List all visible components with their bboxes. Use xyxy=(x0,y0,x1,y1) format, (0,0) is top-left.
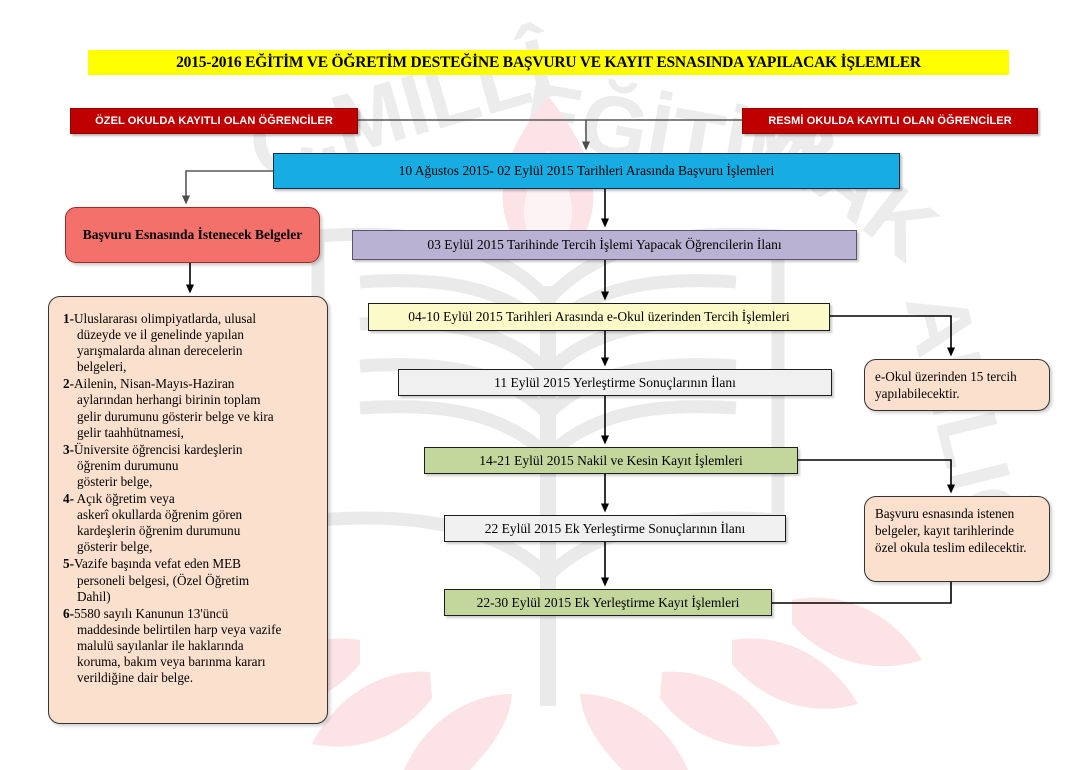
note-belgeler-ozel-okula-teslim: Başvuru esnasında istenen belgeler, kayı… xyxy=(864,496,1050,582)
document-list-item-text: Ailenin, Nisan-Mayıs-Haziran aylarından … xyxy=(74,376,274,439)
header-resmi-okulda-kayitli-ogrenciler: RESMİ OKULDA KAYITLI OLAN ÖĞRENCİLER xyxy=(742,108,1038,134)
step-basvuru-esnasinda-istenecek-belgeler: Başvuru Esnasında İstenecek Belgeler xyxy=(65,207,320,263)
note-e-okul-15-tercih: e-Okul üzerinden 15 tercih yapılabilecek… xyxy=(864,359,1050,411)
document-list-item: 6-5580 sayılı Kanunun 13'üncü maddesinde… xyxy=(63,606,315,686)
document-list-item-text: Vazife başında vefat eden MEB personeli … xyxy=(74,556,249,603)
document-list-item: 3-Üniversite öğrencisi kardeşlerin öğren… xyxy=(63,442,315,490)
documents-required-list: 1-Uluslararası olimpiyatlarda, ulusal dü… xyxy=(48,296,328,724)
document-list-item-text: 5580 sayılı Kanunun 13'üncü maddesinde b… xyxy=(74,606,281,685)
document-list-item-text: Açık öğretim veya askerî okullarda öğren… xyxy=(74,491,242,554)
step-yerlestirme-sonuclarinin-ilani: 11 Eylül 2015 Yerleştirme Sonuçlarının İ… xyxy=(398,369,832,396)
page-title: 2015-2016 EĞİTİM VE ÖĞRETİM DESTEĞİNE BA… xyxy=(88,50,1009,75)
step-ek-yerlestirme-sonuclarinin-ilani: 22 Eylül 2015 Ek Yerleştirme Sonuçlarını… xyxy=(444,515,786,542)
document-list-item-number: 5- xyxy=(63,556,74,571)
document-list-item-number: 1- xyxy=(63,311,74,326)
document-list-item-number: 2- xyxy=(63,376,74,391)
step-tercih-islemi-yapacak-ogrencilerin-ilani: 03 Eylül 2015 Tarihinde Tercih İşlemi Ya… xyxy=(352,230,857,260)
document-list-item-text: Uluslararası olimpiyatlarda, ulusal düze… xyxy=(74,311,256,374)
step-ek-yerlestirme-kayit-islemleri: 22-30 Eylül 2015 Ek Yerleştirme Kayıt İş… xyxy=(444,589,772,616)
step-e-okul-tercih-islemleri: 04-10 Eylül 2015 Tarihleri Arasında e-Ok… xyxy=(368,303,830,331)
flowchart-page: C.MİLLÎ EĞİTİM BAK ANLIĞI xyxy=(0,0,1092,770)
step-nakil-ve-kesin-kayit-islemleri: 14-21 Eylül 2015 Nakil ve Kesin Kayıt İş… xyxy=(424,447,798,474)
document-list-item: 2-Ailenin, Nisan-Mayıs-Haziran aylarında… xyxy=(63,376,315,440)
document-list-item-text: Üniversite öğrencisi kardeşlerin öğrenim… xyxy=(74,442,242,489)
document-list-item: 5-Vazife başında vefat eden MEB personel… xyxy=(63,556,315,604)
document-list-item-number: 3- xyxy=(63,442,74,457)
document-list: 1-Uluslararası olimpiyatlarda, ulusal dü… xyxy=(63,311,315,686)
document-list-item-number: 6- xyxy=(63,606,74,621)
document-list-item: 1-Uluslararası olimpiyatlarda, ulusal dü… xyxy=(63,311,315,375)
document-list-item-number: 4- xyxy=(63,491,74,506)
step-basvuru-islemleri: 10 Ağustos 2015- 02 Eylül 2015 Tarihleri… xyxy=(273,153,900,189)
document-list-item: 4- Açık öğretim veya askerî okullarda öğ… xyxy=(63,491,315,555)
header-ozel-okulda-kayitli-ogrenciler: ÖZEL OKULDA KAYITLI OLAN ÖĞRENCİLER xyxy=(70,108,358,134)
